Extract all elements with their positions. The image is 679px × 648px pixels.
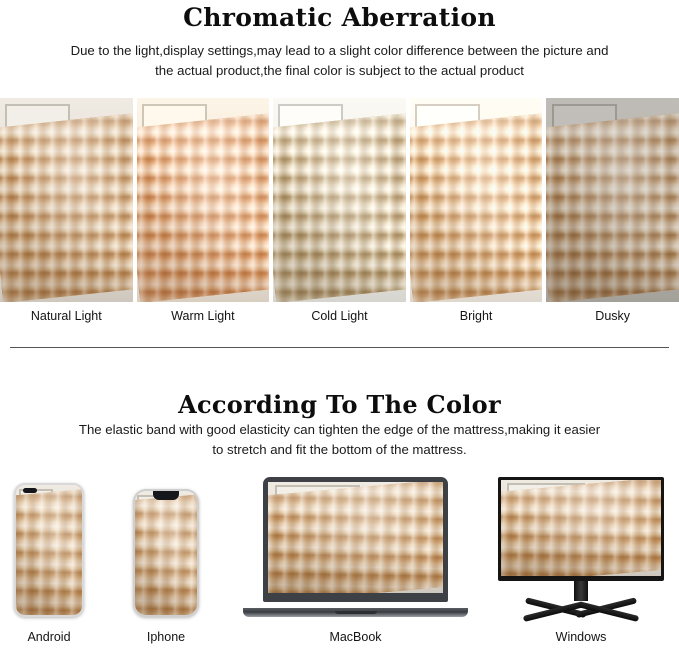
section-divider: [10, 347, 669, 348]
iphone-notch-icon: [153, 491, 179, 500]
according-subtitle-line-1: The elastic band with good elasticity ca…: [79, 422, 600, 437]
macbook-screen: [268, 482, 443, 593]
swatch-bright[interactable]: [410, 98, 543, 302]
swatch-label-warm-light: Warm Light: [137, 307, 270, 325]
device-label-windows: Windows: [492, 628, 670, 646]
device-label-row: Android Iphone MacBook Windows: [0, 628, 679, 648]
iphone-mockup[interactable]: [133, 489, 199, 617]
android-screen: [16, 485, 82, 615]
faux-fur-throw-image: [410, 113, 543, 302]
iphone-frame: [133, 489, 199, 617]
page-title-according-to-the-color: According To The Color: [0, 390, 679, 420]
macbook-hinge-notch: [335, 611, 377, 614]
device-label-iphone: Iphone: [133, 628, 199, 646]
monitor-screen: [501, 480, 661, 576]
chromatic-subtitle-line-1: Due to the light,display settings,may le…: [71, 43, 609, 58]
chromatic-subtitle: Due to the light,display settings,may le…: [20, 41, 660, 81]
monitor-bezel: [498, 477, 664, 581]
device-label-android: Android: [14, 628, 84, 646]
faux-fur-throw-image: [0, 113, 133, 302]
swatch-label-bright: Bright: [410, 307, 543, 325]
faux-fur-throw-image: [137, 113, 270, 302]
windows-monitor-mockup[interactable]: [492, 477, 670, 617]
iphone-screen: [135, 491, 197, 615]
faux-fur-throw-image: [16, 489, 82, 615]
faux-fur-throw-image: [273, 113, 406, 302]
swatch-label-cold-light: Cold Light: [273, 307, 406, 325]
faux-fur-throw-image: [268, 482, 443, 593]
android-phone-frame: [14, 483, 84, 617]
swatch-label-dusky: Dusky: [546, 307, 679, 325]
page-title-chromatic-aberration: Chromatic Aberration: [0, 2, 679, 33]
swatch-label-natural-light: Natural Light: [0, 307, 133, 325]
android-phone-mockup[interactable]: [14, 483, 84, 617]
monitor-stand-base: [522, 597, 640, 617]
swatch-warm-light[interactable]: [137, 98, 270, 302]
swatch-dusky[interactable]: [546, 98, 679, 302]
faux-fur-throw-image: [135, 495, 197, 615]
according-subtitle-line-2: to stretch and fit the bottom of the mat…: [20, 440, 659, 460]
android-camera-pill-icon: [23, 488, 37, 493]
chromatic-subtitle-line-2: the actual product,the final color is su…: [20, 61, 660, 81]
swatch-label-row: Natural Light Warm Light Cold Light Brig…: [0, 307, 679, 325]
macbook-mockup[interactable]: [243, 477, 468, 617]
faux-fur-throw-image: [501, 480, 661, 576]
swatch-natural-light[interactable]: [0, 98, 133, 302]
faux-fur-throw-image: [546, 113, 679, 302]
device-mockup-row: [0, 472, 679, 617]
according-subtitle: The elastic band with good elasticity ca…: [20, 420, 659, 460]
device-label-macbook: MacBook: [243, 628, 468, 646]
macbook-lid: [263, 477, 448, 602]
lighting-swatch-strip: [0, 98, 679, 302]
swatch-cold-light[interactable]: [273, 98, 406, 302]
